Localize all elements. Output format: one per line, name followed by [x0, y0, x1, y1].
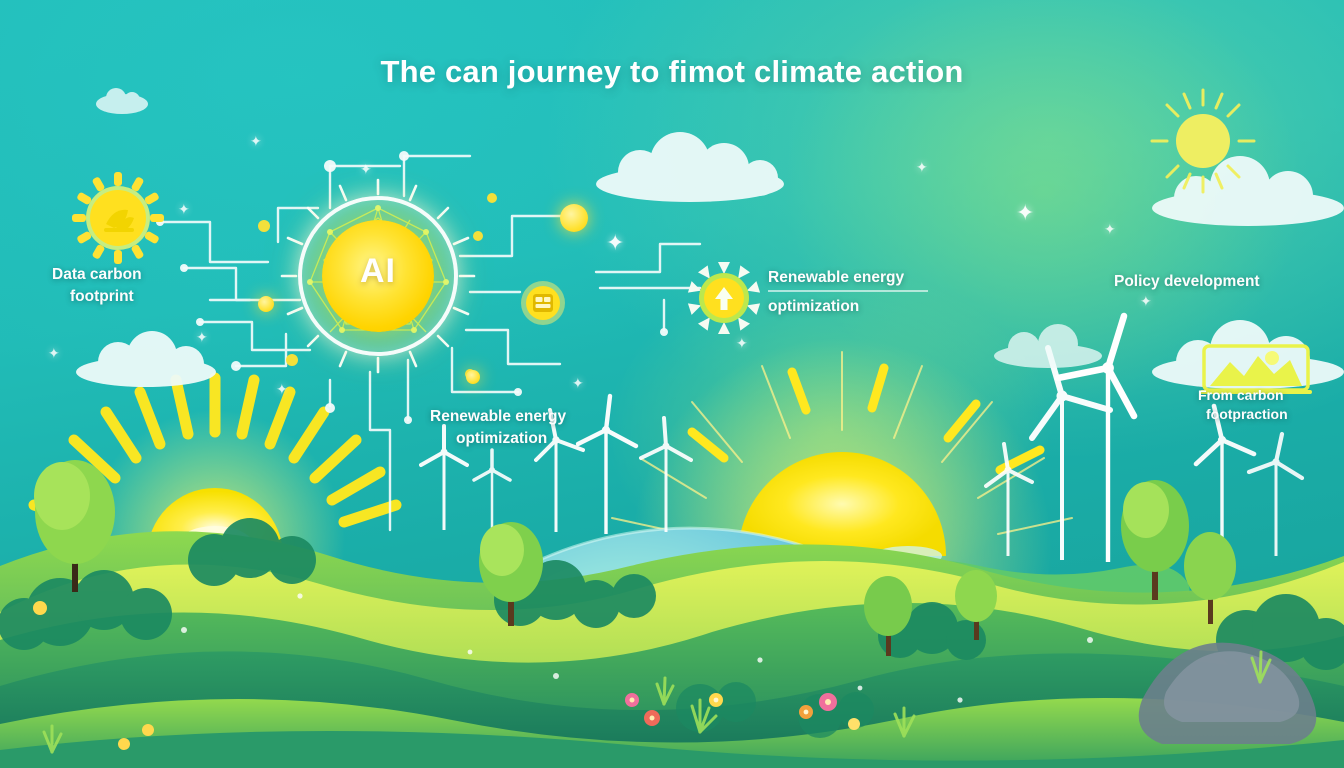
- sparkle-8: ✦: [916, 160, 928, 174]
- label-line-1: From carbon: [1198, 386, 1344, 405]
- sparkle-10: ✦: [1104, 222, 1116, 236]
- sparkle-12: ✦: [736, 336, 748, 350]
- sparkle-13: ✦: [360, 162, 372, 176]
- node-chip-icon[interactable]: [518, 278, 568, 328]
- label-policy-development: Policy development: [1114, 271, 1344, 293]
- sparkle-2: ✦: [178, 202, 190, 216]
- node-dot-tiny-icon[interactable]: [466, 370, 480, 384]
- sun-leaf-icon[interactable]: [72, 172, 164, 264]
- illustration-canvas: AI: [0, 0, 1344, 768]
- label-underline-renewable-center: [768, 290, 928, 292]
- node-dot-icon[interactable]: [560, 204, 588, 232]
- label-line-1: Data carbon: [52, 264, 242, 286]
- label-line-1: Renewable energy: [430, 406, 630, 428]
- sparkle-9: ✦: [1016, 202, 1034, 224]
- label-from-carbon-footpraction: From carbon footpraction: [1198, 386, 1344, 424]
- label-renewable-energy-optimization-left: Renewable energy optimization: [430, 406, 630, 450]
- ai-network-hub[interactable]: AI: [292, 190, 464, 362]
- sparkle-1: ✦: [250, 134, 262, 148]
- label-renewable-energy-optimization-center: Renewable energy optimization: [768, 267, 988, 318]
- label-line-2: footpraction: [1206, 405, 1344, 424]
- node-dot-small-icon[interactable]: [258, 296, 274, 312]
- sparkle-3: ✦: [48, 346, 60, 360]
- sparkle-4: ✦: [196, 330, 208, 344]
- sparkle-5: ✦: [276, 382, 288, 396]
- sparkle-11: ✦: [1140, 294, 1152, 308]
- label-line-2: footprint: [70, 286, 242, 308]
- label-line-1: Policy development: [1114, 271, 1344, 293]
- label-data-carbon-footprint: Data carbon footprint: [52, 264, 242, 308]
- sparkle-6: ✦: [572, 376, 584, 390]
- hub-label: AI: [292, 252, 464, 291]
- sparkle-7: ✦: [606, 232, 624, 254]
- label-line-1: Renewable energy: [768, 267, 988, 289]
- label-line-2: optimization: [456, 428, 630, 450]
- page-title: The can journey to fimot climate action: [0, 54, 1344, 90]
- sun-top-right: [0, 0, 1344, 768]
- sun-arrow-up-icon[interactable]: [688, 262, 760, 334]
- label-line-2: optimization: [768, 296, 988, 318]
